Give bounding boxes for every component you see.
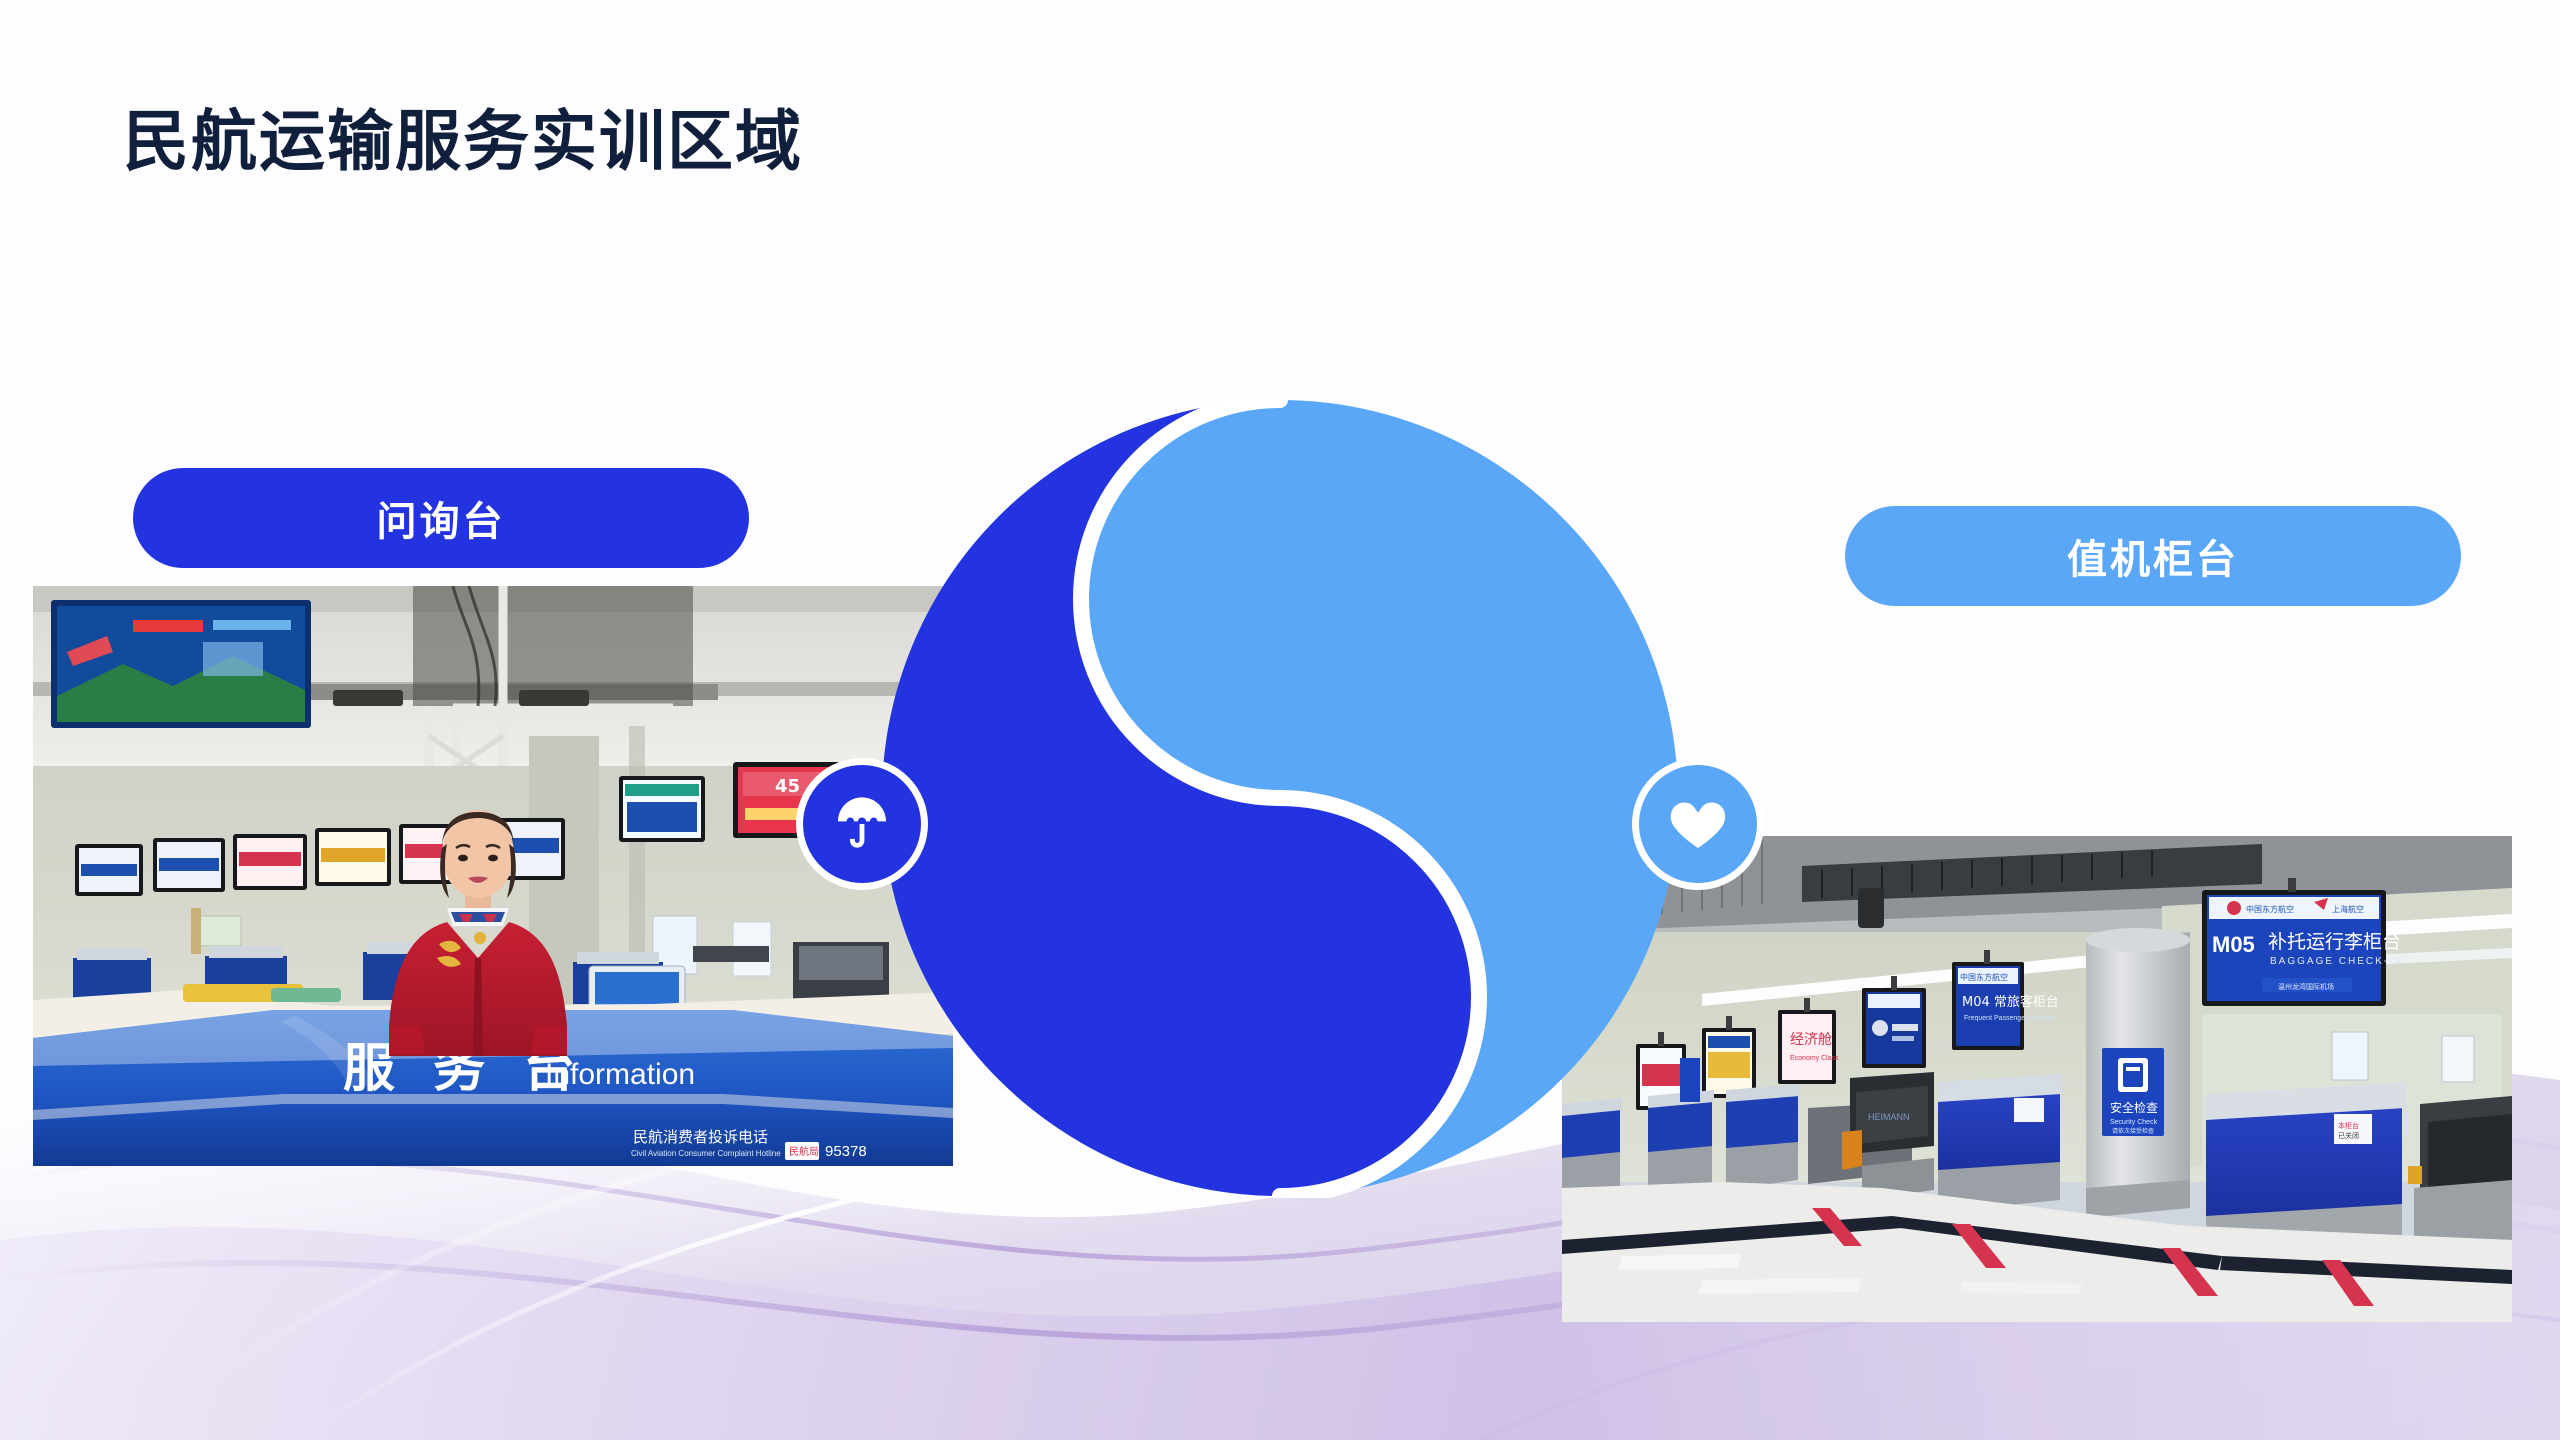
svg-text:45: 45: [775, 776, 800, 797]
umbrella-icon-bubble[interactable]: [796, 758, 928, 890]
svg-text:上海航空: 上海航空: [2332, 904, 2364, 914]
svg-text:Civil Aviation Consumer Compla: Civil Aviation Consumer Complaint Hotlin…: [631, 1149, 781, 1158]
information-desk-photo: 45: [33, 586, 953, 1166]
svg-text:Frequent Passenger Counter: Frequent Passenger Counter: [1964, 1015, 2055, 1022]
pill-right-label: 值机柜台: [2067, 527, 2239, 585]
svg-text:Information: Information: [545, 1058, 695, 1091]
page-title: 民航运输服务实训区域: [123, 88, 803, 184]
pill-button-information-desk[interactable]: 问询台: [133, 468, 749, 568]
svg-text:民航消费者投诉电话: 民航消费者投诉电话: [633, 1128, 768, 1146]
pill-button-check-in-counter[interactable]: 值机柜台: [1845, 506, 2461, 606]
check-in-counter-photo: 经济舱 Economy Class 中国东方航空 M04 常旅客柜台 Frequ…: [1562, 836, 2512, 1322]
svg-text:请依次接受检查: 请依次接受检查: [2112, 1127, 2154, 1135]
svg-text:HEIMANN: HEIMANN: [1868, 1112, 1910, 1122]
svg-text:民航局: 民航局: [789, 1145, 819, 1158]
yin-yang-emblem: [880, 398, 1680, 1198]
svg-text:中国东方航空: 中国东方航空: [2246, 904, 2294, 914]
svg-text:温州龙湾国际机场: 温州龙湾国际机场: [2278, 982, 2334, 991]
svg-text:经济舱: 经济舱: [1790, 1032, 1832, 1048]
pill-left-label: 问询台: [377, 489, 506, 547]
svg-text:补托运行李柜台: 补托运行李柜台: [2268, 931, 2401, 953]
heart-icon: [1666, 792, 1730, 856]
svg-text:本柜台: 本柜台: [2338, 1121, 2359, 1130]
svg-text:95378: 95378: [825, 1143, 867, 1160]
svg-text:安全检查: 安全检查: [2110, 1100, 2158, 1115]
svg-text:M04 常旅客柜台: M04 常旅客柜台: [1962, 994, 2059, 1010]
heart-icon-bubble[interactable]: [1632, 758, 1764, 890]
svg-text:中国东方航空: 中国东方航空: [1960, 972, 2008, 982]
svg-text:已关闭: 已关闭: [2338, 1131, 2359, 1140]
svg-text:Security Check: Security Check: [2110, 1119, 2158, 1126]
umbrella-icon: [830, 792, 894, 856]
svg-text:Economy Class: Economy Class: [1790, 1055, 1839, 1062]
slide-canvas: 民航运输服务实训区域: [0, 0, 2560, 1440]
svg-text:BAGGAGE CHECK-IN: BAGGAGE CHECK-IN: [2270, 956, 2403, 967]
svg-text:M05: M05: [2212, 932, 2255, 957]
